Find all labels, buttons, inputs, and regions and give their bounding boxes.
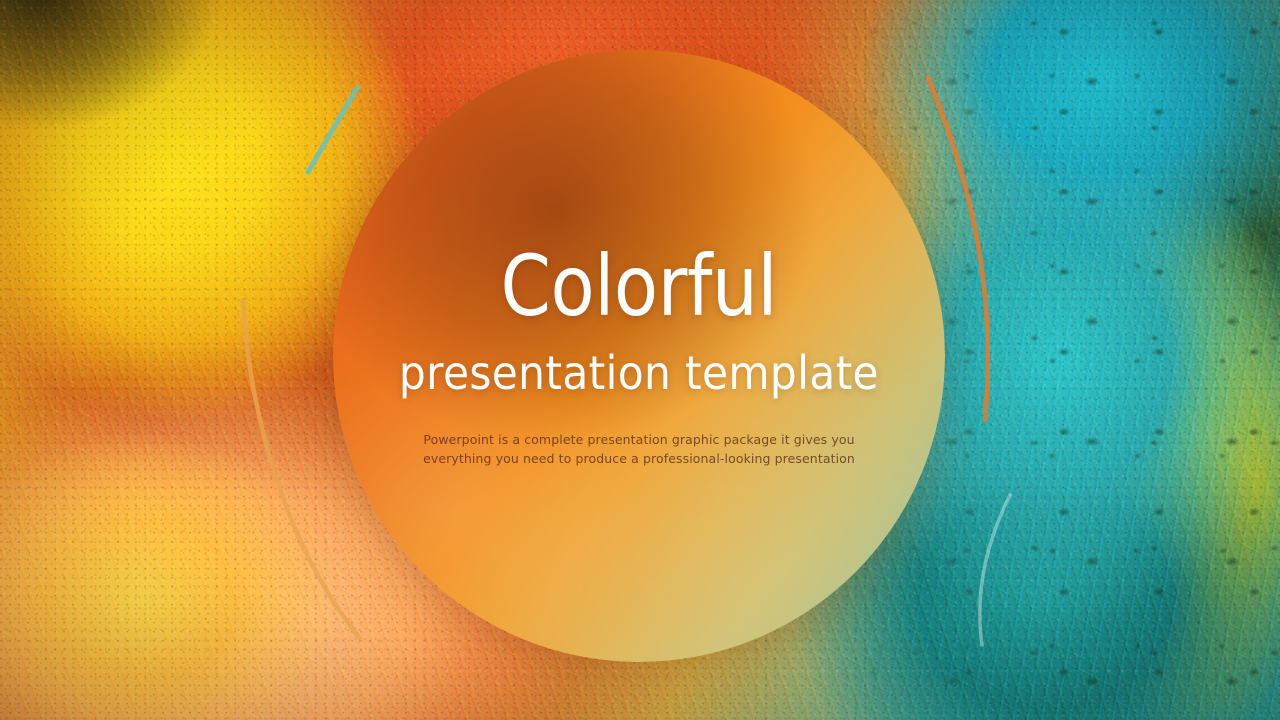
presentation-slide: Colorful presentation template Powerpoin… <box>0 0 1280 720</box>
hero-text-block: Colorful presentation template Powerpoin… <box>333 50 945 662</box>
page-subtitle: presentation template <box>399 350 879 396</box>
arc-bottom-right-white-icon <box>980 495 1010 645</box>
page-description: Powerpoint is a complete presentation gr… <box>389 430 889 468</box>
page-title: Colorful <box>501 244 777 328</box>
